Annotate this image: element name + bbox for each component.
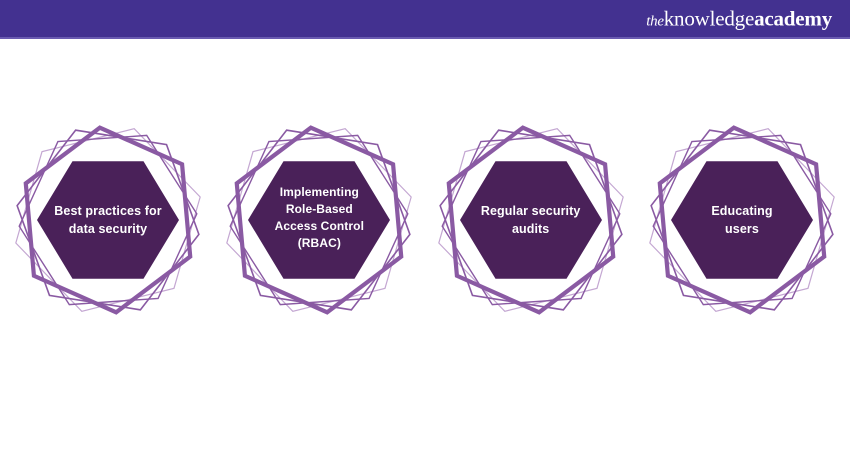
- hexagon-card-regular-security-audits[interactable]: Regular security audits: [431, 112, 631, 332]
- hexagon-frame-group: [219, 112, 419, 332]
- the-knowledge-academy-logo: theknowledgeacademy: [646, 8, 832, 29]
- hexagon-card-educating-users[interactable]: Educating users: [642, 112, 842, 332]
- hexagon-frame-group: [642, 112, 842, 332]
- hexagon-frame-group: [8, 112, 208, 332]
- header-divider: [0, 37, 850, 39]
- hexagon-frame-group: [431, 112, 631, 332]
- logo-word-the: the: [646, 13, 663, 29]
- hexagon-card-best-practices-for-data-security[interactable]: Best practices for data security: [8, 112, 208, 332]
- logo-word-knowledge: knowledge: [664, 6, 754, 30]
- hexagon-card-implementing-role-based-access-control[interactable]: Implementing Role-Based Access Control (…: [219, 112, 419, 332]
- logo-word-academy: academy: [754, 6, 832, 30]
- hexagon-fill: [671, 161, 813, 278]
- hexagon-fill: [248, 161, 390, 278]
- hexagon-fill: [460, 161, 602, 278]
- hexagon-fill: [37, 161, 179, 278]
- hexagon-card-row: Best practices for data securityImplemen…: [0, 112, 850, 332]
- header-bar: theknowledgeacademy: [0, 0, 850, 37]
